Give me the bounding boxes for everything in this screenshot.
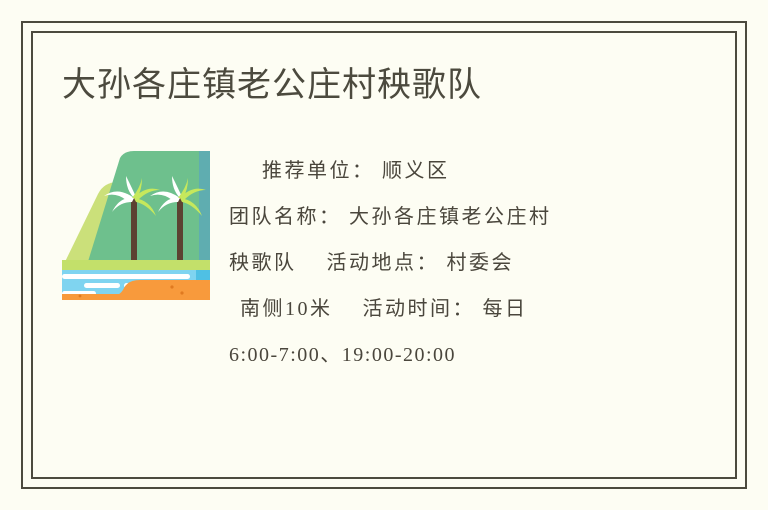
hill-right-strip: [199, 151, 210, 268]
info-line-activity-hours: 6:00-7:00、19:00-20:00: [229, 332, 661, 378]
tropical-beach-illustration: [62, 150, 210, 300]
sand-dot-2: [180, 291, 183, 294]
info-text-block: 推荐单位： 顺义区 团队名称： 大孙各庄镇老公庄村 秧歌队 活动地点： 村委会 …: [229, 148, 661, 378]
info-line-team-name: 团队名称： 大孙各庄镇老公庄村: [229, 194, 661, 240]
content-card: 大孙各庄镇老公庄村秧歌队: [21, 21, 747, 489]
wave-line-1: [62, 274, 190, 279]
info-line-activity-place: 秧歌队 活动地点： 村委会: [229, 240, 661, 286]
info-line-recommending-unit: 推荐单位： 顺义区: [229, 148, 661, 194]
sand-base: [62, 294, 210, 300]
info-line-activity-time: 南侧10米 活动时间： 每日: [229, 286, 661, 332]
sand-dot-1: [170, 285, 173, 288]
sand-dot-3: [79, 295, 82, 298]
beach-scene-svg: [62, 150, 210, 300]
palm-trunk-1: [131, 198, 137, 268]
shore-grass-strip: [62, 260, 210, 270]
page-title: 大孙各庄镇老公庄村秧歌队: [62, 63, 482, 107]
wave-line-2: [84, 283, 120, 288]
palm-trunk-2: [177, 198, 183, 268]
